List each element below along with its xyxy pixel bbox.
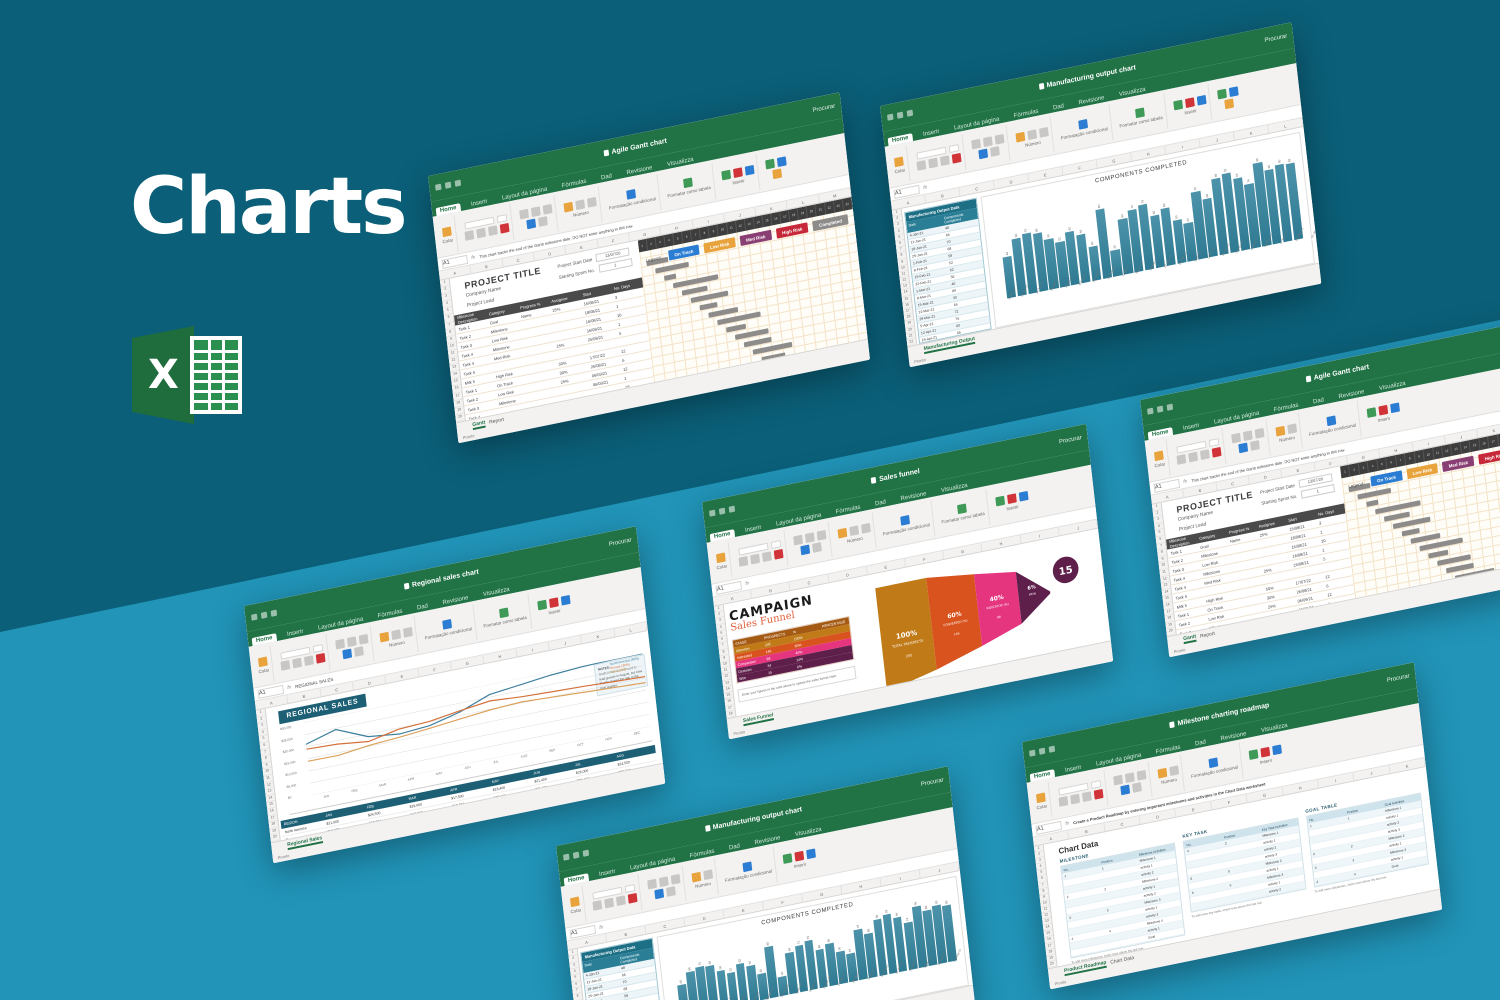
bar-value-label: 60 (1152, 211, 1156, 215)
bar-value-label: 30 (1113, 245, 1117, 249)
italic-icon (292, 657, 302, 668)
bar-value-label: 60 (817, 944, 821, 948)
manufacturing-data-table[interactable]: Manufacturing Output Data Date Component… (904, 198, 992, 344)
ribbon-group-cells[interactable]: Inserir (533, 584, 575, 628)
bar-value-label: 40 (1090, 241, 1094, 245)
redo-icon (1049, 746, 1056, 753)
ribbon-group-styles[interactable]: Formatação condicional (1303, 400, 1361, 447)
save-icon (887, 114, 894, 121)
quick-access-toolbar[interactable] (435, 180, 461, 191)
bar-value-label: 44 (848, 948, 852, 952)
clipboard-icon (894, 156, 904, 167)
ribbon-group-styles[interactable]: Formatação condicional (419, 604, 477, 651)
save-icon (251, 614, 258, 621)
bar-value-label: 84 (895, 913, 899, 917)
redo-icon (271, 610, 278, 617)
underline-icon (304, 655, 314, 666)
search-box[interactable]: Procurar (1387, 673, 1410, 684)
ribbon-group-number[interactable]: Número (1271, 412, 1303, 453)
gantt-task-bar[interactable] (1366, 500, 1378, 507)
ribbon-group-paste[interactable]: Colar (1149, 439, 1170, 478)
bar-value-label: 92 (884, 910, 888, 914)
redo-icon (1167, 404, 1174, 411)
italic-icon (476, 227, 486, 238)
clipboard-icon (442, 226, 452, 237)
underline-icon (1200, 449, 1210, 460)
font-color-icon (315, 652, 325, 663)
ribbon-group-font[interactable] (459, 204, 514, 250)
document-title: Sales funnel (871, 467, 920, 484)
italic-icon (604, 897, 614, 908)
gantt-task-bar[interactable] (681, 286, 707, 296)
quick-access-toolbar[interactable] (1147, 404, 1173, 415)
undo-icon (719, 508, 726, 515)
cond-format-icon (900, 514, 910, 525)
cond-format-icon (743, 861, 753, 872)
ribbon-group-styles[interactable]: Formatação condicional (1185, 742, 1243, 789)
gantt-task-bar[interactable] (1375, 500, 1421, 514)
ribbon-group-alignment[interactable] (967, 125, 1010, 169)
font-color-icon (1093, 788, 1103, 799)
bar-value-label: 92 (1223, 168, 1227, 172)
font-color-icon (499, 222, 509, 233)
document-title: Regional sales chart (404, 568, 479, 590)
bar-value-label: 30 (779, 971, 783, 975)
format-icon (1018, 490, 1028, 501)
window-regional-sales[interactable]: Regional sales chart Procurar Home Inser… (244, 526, 665, 863)
format-icon (744, 164, 754, 175)
ribbon-group-number[interactable]: Número (375, 616, 418, 660)
currency-icon (691, 871, 701, 882)
bar-value-label: 78 (1193, 187, 1197, 191)
bar-value-label: 66 (688, 967, 692, 971)
excel-file-icon (404, 583, 410, 590)
bar-value-label: 74 (1246, 179, 1250, 183)
percent-icon (575, 199, 585, 210)
align-left-icon (647, 878, 657, 889)
excel-file-icon (871, 477, 877, 484)
align-left-icon (971, 138, 981, 149)
ribbon-group-table[interactable]: Formatar como tabela (662, 163, 716, 209)
search-box[interactable]: Procurar (1059, 435, 1082, 446)
bar-value-label: 88 (874, 914, 878, 918)
bar-value-label: 70 (1024, 228, 1028, 232)
quick-access-toolbar[interactable] (251, 610, 277, 621)
bold-icon (1176, 454, 1186, 465)
italic-icon (1188, 451, 1198, 462)
ribbon-group-paste[interactable]: Colar (711, 541, 732, 580)
clipboard-icon (570, 896, 580, 907)
merge-icon (666, 886, 676, 897)
page-title: Charts (130, 168, 406, 246)
ribbon-group-styles[interactable]: Formatação condicional (719, 846, 777, 893)
font-size-field[interactable] (624, 884, 635, 893)
document-title: Agile Gantt chart (1306, 363, 1370, 383)
bar-value-label: 70 (697, 962, 701, 966)
quick-access-toolbar[interactable] (1029, 746, 1055, 757)
table-cell: 4 (1329, 632, 1355, 635)
y-tick-label: $0 (288, 792, 310, 800)
save-icon (709, 510, 716, 517)
bold-icon (592, 900, 602, 911)
table-icon (1135, 107, 1145, 118)
table-icon (499, 607, 509, 618)
autosum-icon (765, 158, 775, 169)
quick-access-toolbar[interactable] (887, 110, 913, 121)
merge-icon (990, 146, 1000, 157)
excel-file-icon (1038, 83, 1044, 90)
bar-value-label: 86 (924, 905, 928, 909)
ribbon-group-paste[interactable]: Colar (437, 215, 458, 254)
ribbon-group-font[interactable] (733, 530, 788, 576)
ribbon-group-alignment[interactable] (789, 521, 832, 565)
excel-file-icon (705, 825, 711, 832)
bar-value-label: 52 (1057, 237, 1061, 241)
percent-icon (849, 525, 859, 536)
gantt-task-bar[interactable] (699, 302, 717, 311)
fx-icon: fx (599, 924, 603, 931)
cond-format-icon (442, 618, 452, 629)
ribbon-group-cells[interactable]: Inserir (778, 837, 820, 881)
redo-icon (907, 110, 914, 117)
clipboard-icon (1154, 450, 1164, 461)
ribbon-group-paste[interactable]: Colar (1031, 781, 1052, 820)
bar-value-label: 64 (787, 948, 791, 952)
bar-value-label: 96 (914, 901, 918, 905)
bar-value-label: 56 (1078, 229, 1082, 233)
ribbon-group-alignment[interactable] (643, 865, 686, 909)
bold-icon (1058, 796, 1068, 807)
gantt-task-bar[interactable] (664, 274, 676, 281)
underline-icon (940, 155, 950, 166)
hero-block: Charts (130, 168, 406, 246)
align-right-icon (994, 133, 1004, 144)
excel-logo-letter: X (148, 352, 179, 398)
align-center-icon (659, 876, 669, 887)
delete-icon (1378, 404, 1388, 415)
bar-value-label: 86 (1267, 165, 1271, 169)
delete-icon (733, 167, 743, 178)
currency-icon (837, 527, 847, 538)
wrap-text-icon (1238, 442, 1248, 453)
bar-value-label: 62 (1067, 226, 1071, 230)
italic-icon (928, 157, 938, 168)
bar-value-label: 76 (806, 936, 810, 940)
search-box[interactable]: Procurar (812, 103, 835, 114)
excel-file-icon (1306, 376, 1312, 383)
ribbon-group-number[interactable]: Número (833, 512, 876, 556)
ribbon-group-styles[interactable]: Formatação condicional (1055, 104, 1113, 151)
ribbon-group-number[interactable]: Número (1153, 754, 1185, 795)
align-right-icon (1136, 769, 1146, 780)
ribbon-group-alignment[interactable] (515, 195, 558, 239)
gantt-task-bar[interactable] (1384, 512, 1410, 522)
bar-value-label: 88 (944, 900, 948, 904)
fx-icon: fx (923, 184, 927, 191)
bar-value-label: 50 (1174, 215, 1178, 219)
ribbon-group-paste[interactable]: Colar (253, 645, 274, 684)
comma-icon (1039, 127, 1049, 138)
redo-icon (729, 506, 736, 513)
wrap-text-icon (654, 888, 664, 899)
align-center-icon (1243, 430, 1253, 441)
bar-value-label: 80 (1097, 204, 1101, 208)
ribbon-group-table[interactable]: Formatar como tabela (936, 489, 990, 535)
percent-icon (391, 629, 401, 640)
merge-icon (812, 542, 822, 553)
format-icon (1272, 744, 1282, 755)
bar-value-label: 68 (1035, 228, 1039, 232)
sort-filter-icon (772, 168, 782, 179)
window-roadmap-chart-data[interactable]: Milestone charting roadmap Procurar Home… (1022, 662, 1442, 989)
cond-format-icon (1209, 757, 1219, 768)
font-size-field[interactable] (496, 214, 507, 223)
bar-value-label: 76 (1140, 199, 1144, 203)
y-tick-label: $25,000 (281, 734, 303, 742)
ribbon-group-font[interactable] (1171, 428, 1226, 474)
search-box[interactable]: Procurar (921, 777, 944, 788)
ribbon-group-paste[interactable]: Colar (889, 145, 910, 184)
ribbon-group-cells[interactable]: Inserir (717, 154, 760, 198)
wrap-text-icon (1120, 784, 1130, 795)
percent-icon (1287, 423, 1297, 434)
document-title: Agile Gantt chart (603, 137, 667, 157)
align-right-icon (670, 873, 680, 884)
funnel-val-3: 98 (997, 615, 1001, 620)
ribbon-group-alignment[interactable] (331, 625, 374, 669)
bar-value-label: 90 (1277, 159, 1281, 163)
underline-icon (488, 225, 498, 236)
clipboard-icon (258, 656, 268, 667)
wrap-text-icon (526, 218, 536, 229)
comma-icon (587, 197, 597, 208)
bar-value-label: 48 (1005, 251, 1009, 255)
font-size-field[interactable] (948, 144, 959, 153)
align-left-icon (519, 208, 529, 219)
gantt-task-bar[interactable] (726, 324, 746, 333)
window-manufacturing-2[interactable]: Manufacturing output chart Procurar Home… (556, 766, 975, 1000)
ribbon-group-styles[interactable]: Formatação condicional (603, 174, 661, 221)
italic-icon (1070, 793, 1080, 804)
save-icon (1029, 750, 1036, 757)
ribbon-group-cells[interactable]: Inserir (1169, 84, 1212, 128)
clipboard-icon (716, 552, 726, 563)
quick-access-toolbar[interactable] (563, 850, 589, 861)
ribbon-group-cells[interactable]: Inserir (991, 480, 1033, 524)
font-size-field[interactable] (1208, 438, 1219, 447)
align-left-icon (1113, 774, 1123, 785)
y-tick-label: $5,000 (286, 780, 308, 788)
undo-icon (1157, 406, 1164, 413)
quick-access-toolbar[interactable] (709, 506, 735, 517)
bar-value-label: 66 (826, 938, 830, 942)
gantt-task-bar[interactable] (1402, 528, 1420, 537)
align-center-icon (347, 636, 357, 647)
undo-icon (573, 852, 580, 859)
wrap-text-icon (978, 148, 988, 159)
bar-value-label: 90 (934, 901, 938, 905)
ribbon-group-cells[interactable]: Inserir (1362, 391, 1404, 435)
align-left-icon (335, 638, 345, 649)
align-right-icon (816, 529, 826, 540)
clipboard-icon (1036, 792, 1046, 803)
bar-value-label: 74 (905, 917, 909, 921)
bar-value-label: 58 (1046, 234, 1050, 238)
insert-icon (782, 853, 792, 864)
bar-value-label: 88 (1213, 174, 1217, 178)
currency-icon (1157, 767, 1167, 778)
fx-icon: fx (471, 254, 475, 261)
table-rows[interactable]: 4-Jan-214811-Jan-216618-Jan-217025-Jan-2… (908, 219, 992, 344)
excel-file-icon (1169, 721, 1175, 728)
undo-icon (445, 182, 452, 189)
wrap-text-icon (342, 648, 352, 659)
ribbon-group-font[interactable] (911, 134, 966, 180)
currency-icon (1015, 131, 1025, 142)
bar-value-label: 68 (866, 929, 870, 933)
y-tick-label: $20,000 (282, 746, 304, 754)
cond-format-icon (1078, 118, 1088, 129)
format-icon (806, 848, 816, 859)
bold-icon (916, 160, 926, 171)
bar-value-label: 80 (766, 941, 770, 945)
ribbon-group-font[interactable] (587, 874, 642, 920)
gantt-task-bar[interactable] (1428, 550, 1448, 559)
insert-icon (1366, 407, 1376, 418)
font-color-icon (773, 548, 783, 559)
cond-format-icon (1327, 415, 1337, 426)
legend-label: Legend: (645, 255, 662, 263)
merge-icon (1250, 440, 1260, 451)
ribbon-group-number[interactable]: Número (1011, 116, 1054, 160)
ribbon-group-number[interactable]: Número (559, 186, 602, 230)
delete-icon (794, 850, 804, 861)
currency-icon (563, 201, 573, 212)
align-right-icon (358, 633, 368, 644)
y-tick-label: $30,000 (280, 723, 302, 731)
bar-value-label: 72 (796, 940, 800, 944)
ribbon-group-alignment[interactable] (1109, 761, 1152, 805)
delete-icon (1185, 97, 1195, 108)
search-box[interactable]: Procurar (1264, 33, 1287, 44)
merge-icon (354, 646, 364, 657)
ribbon-group-table[interactable]: Formatar como tabela (478, 593, 532, 639)
ribbon-group-font[interactable] (1053, 770, 1108, 816)
ribbon-group-cells[interactable]: Inserir (1244, 733, 1286, 777)
format-icon (560, 594, 570, 605)
fx-icon: fx (745, 580, 749, 587)
bar-value-label: 62 (737, 959, 741, 963)
poster-canvas: Charts X Agile Gantt chart Procurar (0, 0, 1500, 1000)
font-color-icon (627, 892, 637, 903)
fx-icon: fx (1065, 820, 1069, 827)
comma-icon (861, 523, 871, 534)
align-left-icon (1231, 432, 1241, 443)
fx-icon: fx (287, 684, 291, 691)
bar-value-label: 56 (748, 961, 752, 965)
insert-icon (721, 169, 731, 180)
undo-icon (897, 112, 904, 119)
percent-icon (703, 869, 713, 880)
insert-icon (537, 599, 547, 610)
delete-icon (1260, 746, 1270, 757)
underline-icon (762, 551, 772, 562)
bold-icon (464, 230, 474, 241)
font-size-field[interactable] (770, 540, 781, 549)
merge-icon (1132, 782, 1142, 793)
table-icon (683, 177, 693, 188)
fill-icon (776, 156, 786, 167)
fx-icon: fx (1183, 478, 1187, 485)
align-center-icon (531, 206, 541, 217)
search-box[interactable]: Procurar (609, 537, 632, 548)
format-icon (1390, 402, 1400, 413)
bar-value-label: 66 (1013, 234, 1017, 238)
bar-value-label: 68 (707, 961, 711, 965)
bar-value-label: 44 (1186, 218, 1190, 222)
redo-icon (455, 180, 462, 187)
comma-icon (403, 627, 413, 638)
font-size-field[interactable] (312, 644, 323, 653)
ribbon-group-alignment[interactable] (1227, 419, 1270, 463)
ribbon-group-editing[interactable] (761, 147, 792, 188)
ribbon-group-paste[interactable]: Colar (565, 885, 586, 924)
font-size-field[interactable] (1090, 780, 1101, 789)
sheet-tab-report[interactable]: Report (489, 416, 504, 425)
align-center-icon (805, 532, 815, 543)
insert-icon (1173, 99, 1183, 110)
underline-icon (616, 895, 626, 906)
font-color-icon (1211, 446, 1221, 457)
percent-icon (1027, 129, 1037, 140)
align-center-icon (1125, 772, 1135, 783)
undo-icon (1039, 748, 1046, 755)
ribbon-group-styles[interactable]: Formatação condicional (877, 500, 935, 547)
sheet-tab-report[interactable]: Report (1200, 630, 1215, 639)
align-left-icon (793, 534, 803, 545)
ribbon-group-font[interactable] (275, 634, 330, 680)
delete-icon (1007, 493, 1017, 504)
bar-value-label: 72 (1130, 205, 1134, 209)
align-right-icon (542, 203, 552, 214)
sprint-no-label: Starting Sprint No. (1261, 493, 1298, 505)
save-icon (563, 854, 570, 861)
ribbon-group-number[interactable]: Número (687, 858, 719, 899)
sort-filter-icon (1224, 98, 1234, 109)
bar-value-label: 52 (728, 967, 732, 971)
bar-value-label: 50 (838, 946, 842, 950)
italic-icon (750, 553, 760, 564)
cond-format-icon (626, 188, 636, 199)
bar-value-label: 84 (1235, 173, 1239, 177)
manufacturing-data-table[interactable]: Manufacturing Output Data Date Component… (580, 938, 665, 1000)
redo-icon (583, 850, 590, 857)
save-icon (1147, 408, 1154, 415)
table-icon (957, 503, 967, 514)
bold-icon (280, 660, 290, 671)
save-icon (435, 184, 442, 191)
y-tick-label: $10,000 (285, 769, 307, 777)
gantt-task-bar[interactable] (672, 274, 718, 288)
align-right-icon (1254, 427, 1264, 438)
format-icon (1196, 94, 1206, 105)
bold-icon (738, 556, 748, 567)
y-tick-label: $15,000 (284, 757, 306, 765)
ribbon-group-table[interactable]: Formatar como tabela (1114, 93, 1168, 139)
ribbon-group-editing[interactable] (1213, 77, 1244, 118)
bar-value-label: 96 (1255, 158, 1259, 162)
align-center-icon (983, 136, 993, 147)
